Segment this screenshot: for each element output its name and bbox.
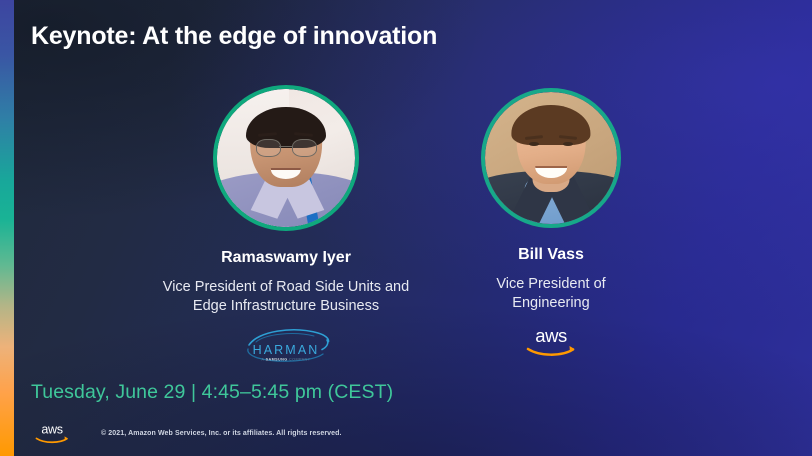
speaker-role: Vice President of Road Side Units and Ed…: [121, 278, 451, 316]
aws-logo: aws: [520, 323, 582, 359]
copyright-text: © 2021, Amazon Web Services, Inc. or its…: [101, 430, 342, 437]
avatar-image-bill-vass: [485, 92, 617, 224]
speaker-photo-ramaswamy-iyer: [213, 85, 359, 231]
speaker-photo-bill-vass: [481, 88, 621, 228]
left-accent-gradient-bar: [0, 0, 14, 456]
portrait-eyeglass-left: [256, 139, 281, 158]
portrait-eyeglass-right: [292, 139, 317, 158]
speaker-role-line-1: Vice President of: [451, 275, 651, 294]
speaker-role-line-2: Edge Infrastructure Business: [121, 297, 451, 316]
speaker-role: Vice President of Engineering: [451, 275, 651, 313]
harman-logo: HARMAN A SAMSUNG COMPANY: [234, 325, 338, 365]
speaker-name: Bill Vass: [451, 245, 651, 264]
portrait-eyeglass-bridge: [279, 146, 291, 148]
svg-text:HARMAN: HARMAN: [253, 343, 320, 357]
speaker-name: Ramaswamy Iyer: [121, 248, 451, 267]
speakers-row: Ramaswamy Iyer Vice President of Road Si…: [14, 85, 812, 365]
speaker-role-line-1: Vice President of Road Side Units and: [121, 278, 451, 297]
speaker-card-ramaswamy-iyer: Ramaswamy Iyer Vice President of Road Si…: [121, 85, 451, 365]
avatar-image-ramaswamy-iyer: [217, 89, 355, 227]
keynote-slide: Keynote: At the edge of innovation: [0, 0, 812, 456]
harman-tagline: A SAMSUNG COMPANY: [261, 358, 310, 362]
session-datetime: Tuesday, June 29 | 4:45–5:45 pm (CEST): [31, 381, 393, 404]
svg-text:aws: aws: [41, 423, 62, 437]
page-title: Keynote: At the edge of innovation: [31, 22, 437, 51]
speaker-card-bill-vass: Bill Vass Vice President of Engineering …: [451, 85, 651, 359]
aws-logo: aws: [31, 420, 73, 446]
speaker-role-line-2: Engineering: [451, 294, 651, 313]
footer: aws © 2021, Amazon Web Services, Inc. or…: [31, 420, 342, 446]
svg-text:aws: aws: [535, 325, 567, 346]
